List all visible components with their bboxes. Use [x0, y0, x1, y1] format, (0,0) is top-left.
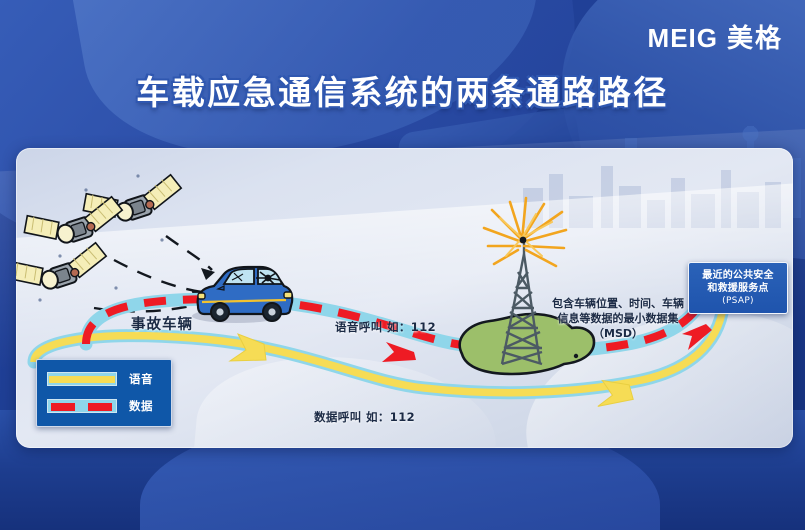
logo-text-cn: 美格	[727, 18, 783, 55]
legend-row-data: 数据	[47, 397, 163, 415]
legend-box: 语音 数据	[36, 359, 172, 427]
data-call-label: 数据呼叫 如：112	[314, 409, 415, 425]
legend-row-voice: 语音	[47, 370, 163, 388]
vehicle-label: 事故车辆	[131, 313, 193, 334]
legend-label-voice: 语音	[129, 371, 153, 387]
voice-swatch-icon	[47, 372, 117, 386]
satellite-icon	[20, 187, 127, 255]
psap-line-1: 最近的公共安全	[702, 269, 773, 282]
infographic-root: MEIG 美格 车载应急通信系统的两条通路路径	[0, 0, 805, 530]
psap-box[interactable]: 最近的公共安全 和救援服务点 (PSAP)	[688, 262, 788, 314]
cell-tower-icon	[460, 198, 594, 374]
page-title: 车载应急通信系统的两条通路路径	[0, 66, 805, 114]
satellite-icon	[16, 233, 111, 301]
psap-line-3: (PSAP)	[722, 295, 754, 308]
msd-note-label: 包含车辆位置、时间、车辆信息等数据的最小数据集（MSD）	[548, 296, 688, 341]
brand-logo: MEIG 美格	[648, 18, 783, 55]
psap-line-2: 和救援服务点	[707, 282, 768, 295]
voice-call-label: 语音呼叫 如：112	[335, 319, 436, 335]
data-swatch-icon	[47, 399, 117, 413]
legend-label-data: 数据	[129, 398, 153, 414]
logo-text-en: MEIG	[648, 23, 718, 54]
